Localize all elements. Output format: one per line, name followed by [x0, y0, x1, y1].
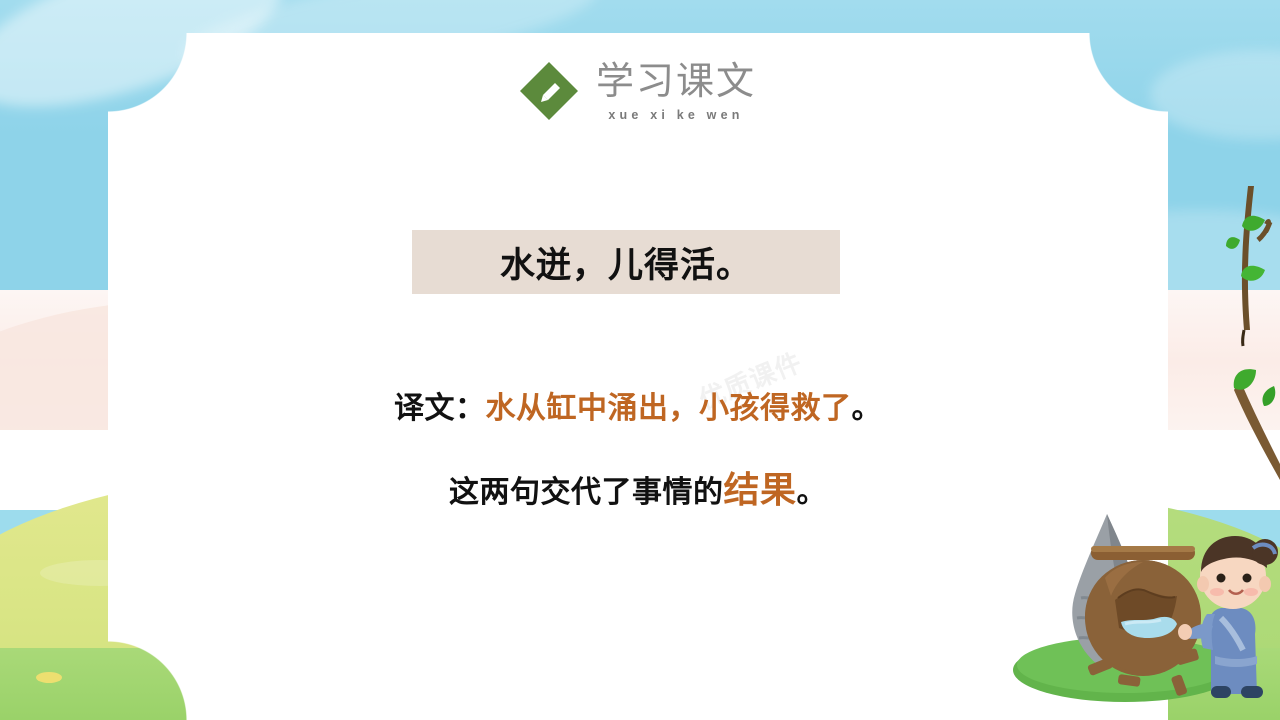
slide-stage: 学习课文 xue xi ke wen 优质课件 水迸，儿得活。 译文：水从缸中涌…: [0, 0, 1280, 720]
summary-highlight: 结果: [723, 470, 796, 510]
quote-text: 水迸，儿得活。: [500, 237, 752, 288]
summary-suffix: 。: [797, 476, 828, 509]
boy-eye: [1243, 574, 1252, 583]
broken-jar-scene: [985, 498, 1280, 720]
translation-label: 译文：: [394, 392, 486, 425]
boy-eye: [1217, 574, 1226, 583]
translation-period: 。: [852, 392, 883, 425]
flower-dot: [36, 672, 62, 683]
boy-shoe: [1241, 686, 1263, 698]
quote-box: 水迸，儿得活。: [412, 230, 840, 294]
boy-shoe: [1211, 686, 1231, 698]
translation-line: 译文：水从缸中涌出，小孩得救了。: [108, 383, 1168, 427]
translation-body: 水从缸中涌出，小孩得救了: [486, 392, 852, 425]
boy-hand: [1178, 624, 1192, 640]
tree-branch-icon: [1170, 180, 1280, 540]
summary-prefix: 这两句交代了事情的: [449, 476, 724, 509]
